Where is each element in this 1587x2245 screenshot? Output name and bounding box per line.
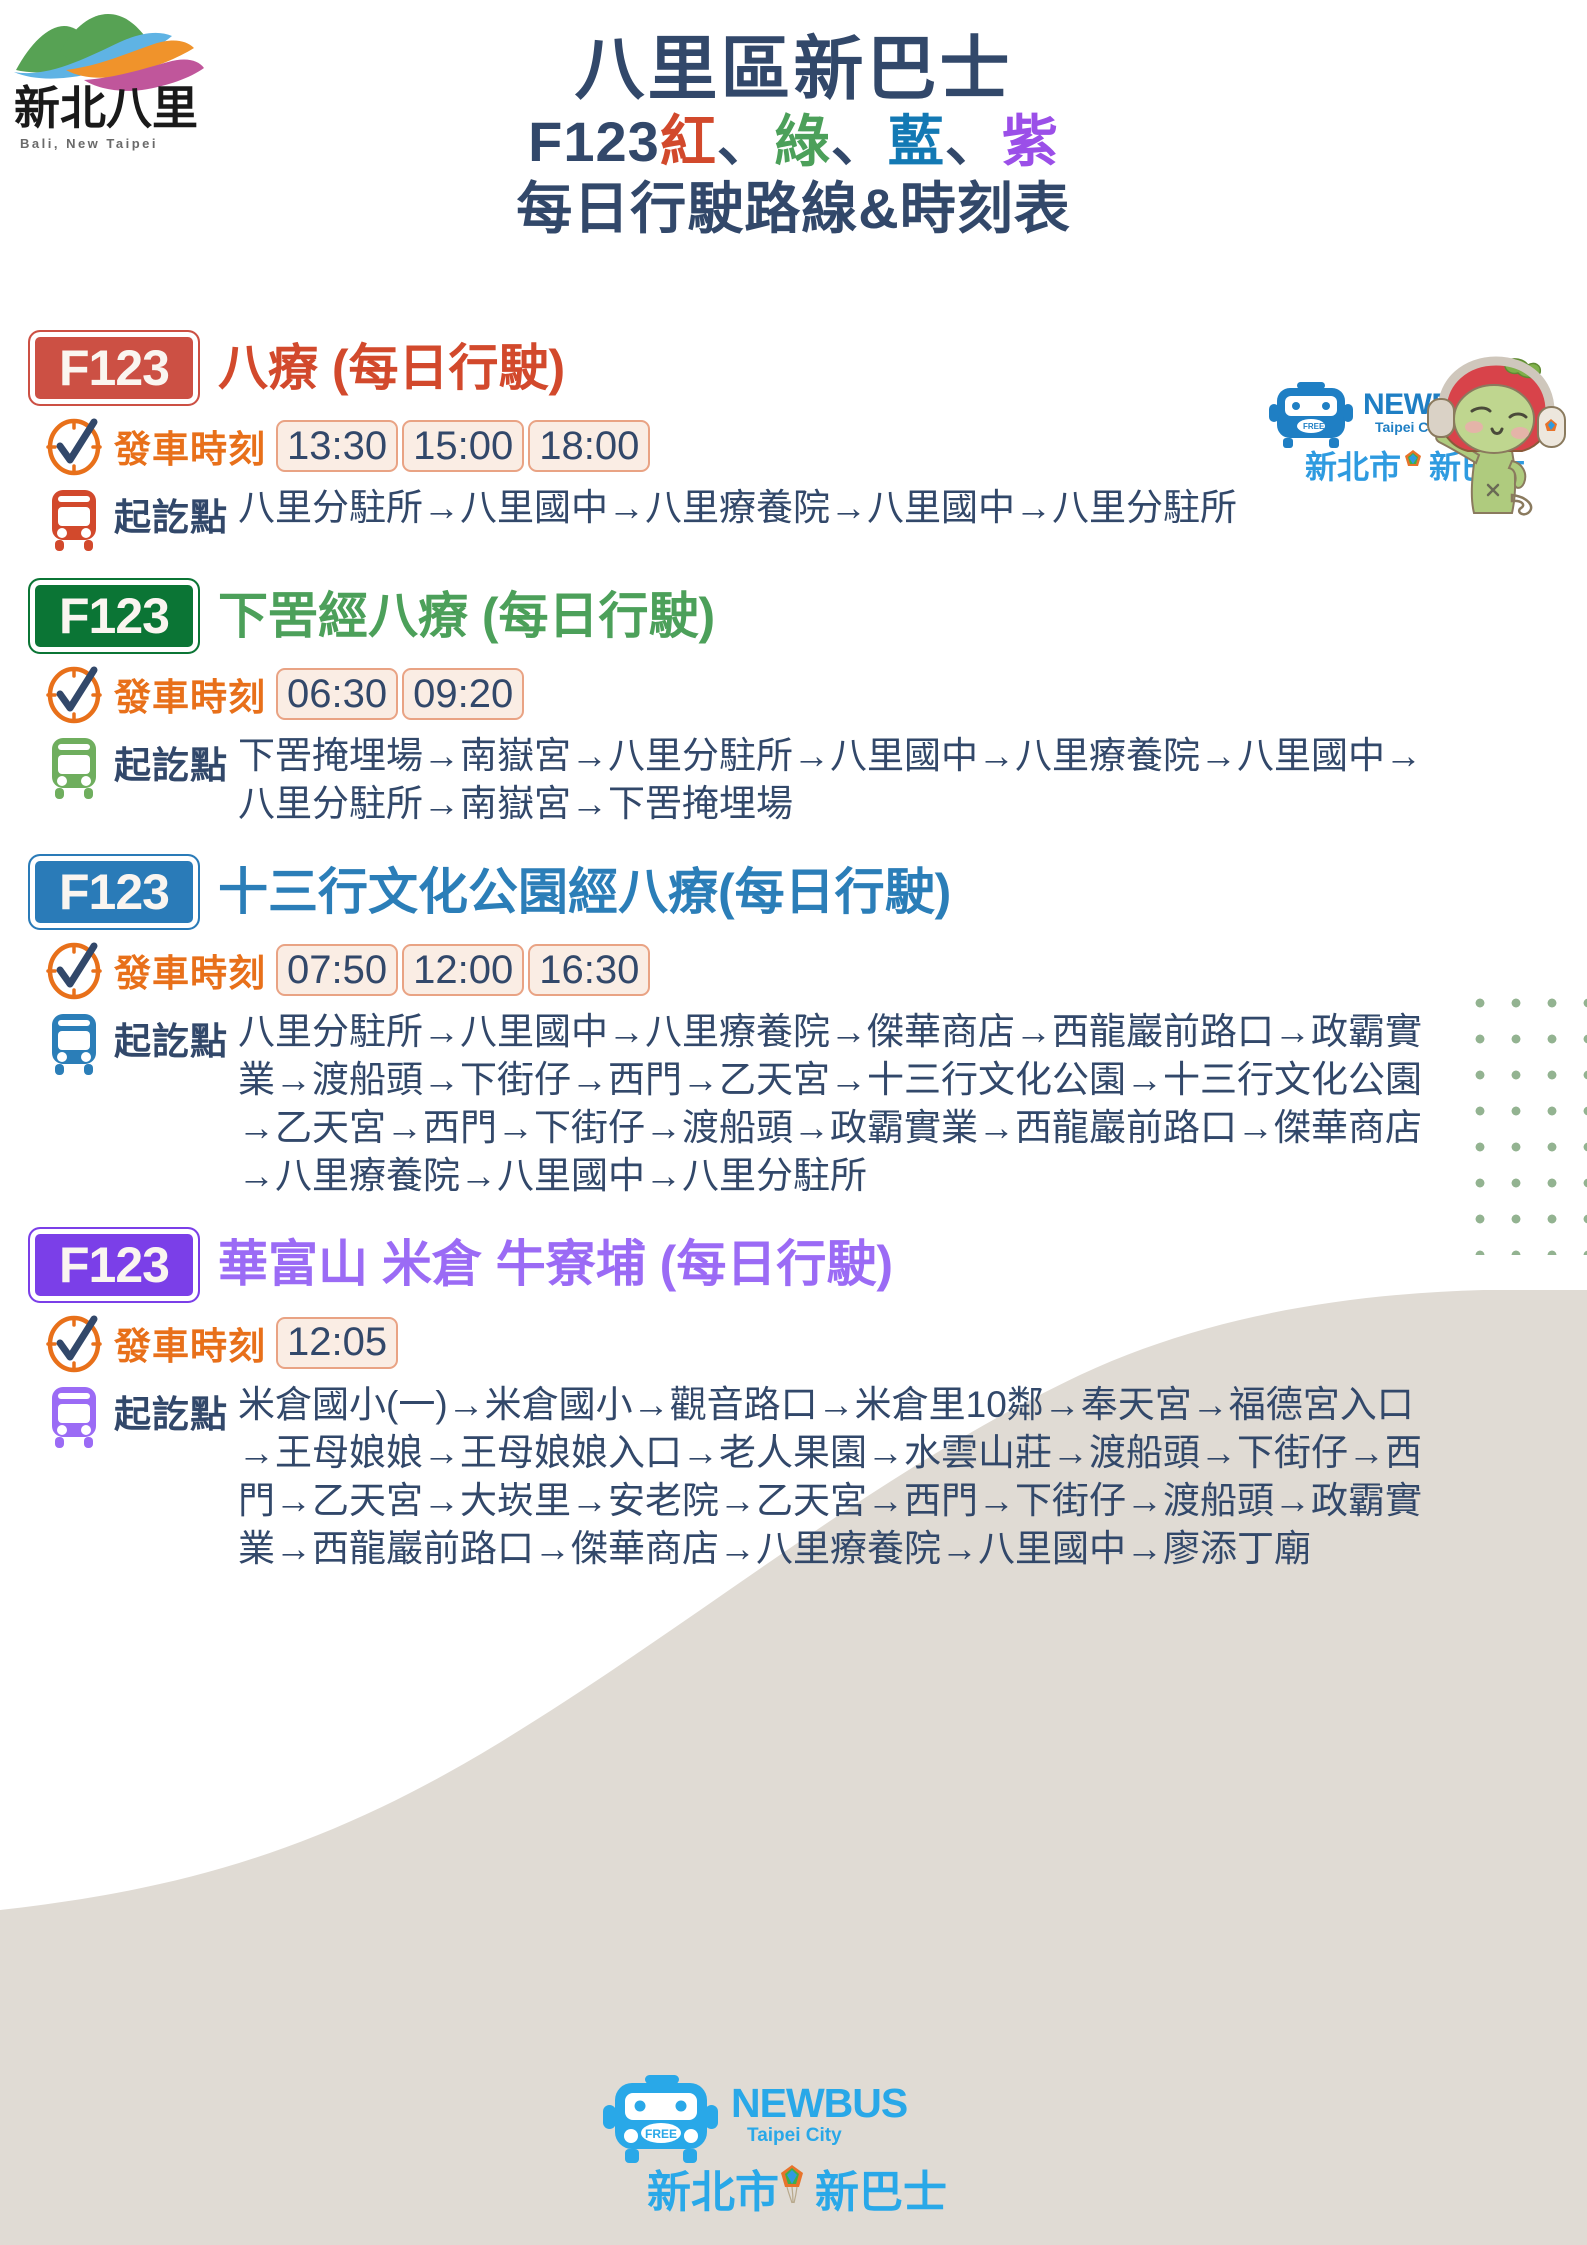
stops-row-purple: 起訖點 米倉國小(一)→米倉國小→觀音路口→米倉里10鄰→奉天宮→福德宮入口→王… bbox=[44, 1381, 1559, 1573]
route-badge-purple[interactable]: F123 bbox=[28, 1227, 200, 1303]
bus-icon bbox=[44, 486, 104, 552]
time-chip: 13:30 bbox=[276, 420, 398, 472]
title-line-2: F123紅、綠、藍、紫 bbox=[0, 108, 1587, 175]
title-line-1: 八里區新巴士 bbox=[0, 32, 1587, 108]
stops-text-green: 下罟掩埋場→南嶽宮→八里分駐所→八里國中→八里療養院→八里國中→八里分駐所→南嶽… bbox=[238, 732, 1423, 828]
stops-text-red: 八里分駐所→八里國中→八里療養院→八里國中→八里分駐所 bbox=[238, 484, 1237, 532]
route-block-purple: F123 華富山 米倉 牛寮埔 (每日行駛) 發車時刻 12:05 bbox=[28, 1227, 1559, 1573]
poster-footer: FREE NEWBUS Taipei City 新北市 新巴士 bbox=[0, 2073, 1587, 2223]
stops-row-blue: 起訖點 八里分駐所→八里國中→八里療養院→傑華商店→西龍巖前路口→政霸實業→渡船… bbox=[44, 1008, 1559, 1200]
route-block-green: F123 下罟經八療 (每日行駛) 發車時刻 06:3009:20 bbox=[28, 578, 1559, 828]
departure-times-label: 發車時刻 bbox=[114, 419, 266, 473]
bus-icon bbox=[44, 1383, 104, 1449]
time-chip: 06:30 bbox=[276, 668, 398, 720]
stops-label: 起訖點 bbox=[114, 732, 228, 789]
route-block-blue: F123 十三行文化公園經八療(每日行駛) 發車時刻 07:5012:0016:… bbox=[28, 854, 1559, 1200]
time-chip: 18:00 bbox=[528, 420, 650, 472]
route-block-red: F123 八療 (每日行駛) 發車時刻 13:3015:0018:00 bbox=[28, 330, 1559, 552]
time-chip-group-red: 13:3015:0018:00 bbox=[276, 420, 654, 472]
clock-icon bbox=[44, 1313, 104, 1373]
route-name-purple: 華富山 米倉 牛寮埔 (每日行駛) bbox=[218, 1238, 893, 1291]
time-chip: 09:20 bbox=[402, 668, 524, 720]
newbus-logo-footer: FREE NEWBUS Taipei City 新北市 新巴士 bbox=[599, 2073, 989, 2223]
departure-times-label: 發車時刻 bbox=[114, 667, 266, 721]
stops-label: 起訖點 bbox=[114, 1381, 228, 1438]
route-name-red: 八療 (每日行駛) bbox=[218, 342, 565, 395]
route-name-blue: 十三行文化公園經八療(每日行駛) bbox=[218, 866, 951, 919]
title-line-3: 每日行駛路線&時刻表 bbox=[0, 175, 1587, 242]
route-list: F123 八療 (每日行駛) 發車時刻 13:3015:0018:00 bbox=[0, 330, 1587, 1573]
stops-text-blue: 八里分駐所→八里國中→八里療養院→傑華商店→西龍巖前路口→政霸實業→渡船頭→下街… bbox=[238, 1008, 1423, 1200]
departure-times-label: 發車時刻 bbox=[114, 943, 266, 997]
stops-row-green: 起訖點 下罟掩埋場→南嶽宮→八里分駐所→八里國中→八里療養院→八里國中→八里分駐… bbox=[44, 732, 1559, 828]
clock-icon bbox=[44, 940, 104, 1000]
title-sep-3: 、 bbox=[945, 110, 1002, 173]
time-chip: 16:30 bbox=[528, 944, 650, 996]
route-badge-green[interactable]: F123 bbox=[28, 578, 200, 654]
time-chip-group-green: 06:3009:20 bbox=[276, 668, 528, 720]
title-color-green: 綠 bbox=[774, 110, 831, 173]
departure-times-red: 發車時刻 13:3015:0018:00 bbox=[44, 416, 1559, 476]
title-sep-1: 、 bbox=[717, 110, 774, 173]
newbus-wordmark: NEWBUS bbox=[731, 2080, 907, 2126]
stops-text-purple: 米倉國小(一)→米倉國小→觀音路口→米倉里10鄰→奉天宮→福德宮入口→王母娘娘→… bbox=[238, 1381, 1423, 1573]
time-chip-group-purple: 12:05 bbox=[276, 1317, 402, 1369]
newbus-cn-left: 新北市 bbox=[647, 2167, 779, 2218]
title-color-red: 紅 bbox=[660, 110, 717, 173]
newbus-subtitle: Taipei City bbox=[747, 2125, 842, 2146]
clock-icon bbox=[44, 664, 104, 724]
departure-times-purple: 發車時刻 12:05 bbox=[44, 1313, 1559, 1373]
title-color-purple: 紫 bbox=[1002, 110, 1059, 173]
route-header-purple: F123 華富山 米倉 牛寮埔 (每日行駛) bbox=[28, 1227, 1559, 1303]
time-chip: 12:00 bbox=[402, 944, 524, 996]
time-chip: 12:05 bbox=[276, 1317, 398, 1369]
stops-row-red: 起訖點 八里分駐所→八里國中→八里療養院→八里國中→八里分駐所 bbox=[44, 484, 1559, 552]
stops-label: 起訖點 bbox=[114, 484, 228, 541]
departure-times-label: 發車時刻 bbox=[114, 1316, 266, 1370]
departure-times-green: 發車時刻 06:3009:20 bbox=[44, 664, 1559, 724]
title-sep-2: 、 bbox=[831, 110, 888, 173]
time-chip: 07:50 bbox=[276, 944, 398, 996]
flower-icon bbox=[781, 2165, 803, 2203]
route-header-green: F123 下罟經八療 (每日行駛) bbox=[28, 578, 1559, 654]
departure-times-blue: 發車時刻 07:5012:0016:30 bbox=[44, 940, 1559, 1000]
clock-icon bbox=[44, 416, 104, 476]
poster-header: 新北八里 Bali, New Taipei 八里區新巴士 F123紅、綠、藍、紫… bbox=[0, 0, 1587, 330]
stops-label: 起訖點 bbox=[114, 1008, 228, 1065]
bus-icon bbox=[44, 734, 104, 800]
time-chip-group-blue: 07:5012:0016:30 bbox=[276, 944, 654, 996]
route-badge-blue[interactable]: F123 bbox=[28, 854, 200, 930]
time-chip: 15:00 bbox=[402, 420, 524, 472]
route-badge-red[interactable]: F123 bbox=[28, 330, 200, 406]
free-label: FREE bbox=[645, 2127, 677, 2141]
route-header-blue: F123 十三行文化公園經八療(每日行駛) bbox=[28, 854, 1559, 930]
title-color-blue: 藍 bbox=[888, 110, 945, 173]
route-header-red: F123 八療 (每日行駛) bbox=[28, 330, 1559, 406]
title-route-code: F123 bbox=[528, 110, 660, 173]
bus-icon bbox=[44, 1010, 104, 1076]
route-name-green: 下罟經八療 (每日行駛) bbox=[218, 590, 715, 643]
page-title: 八里區新巴士 F123紅、綠、藍、紫 每日行駛路線&時刻表 bbox=[0, 32, 1587, 242]
newbus-cn-right: 新巴士 bbox=[815, 2167, 947, 2218]
